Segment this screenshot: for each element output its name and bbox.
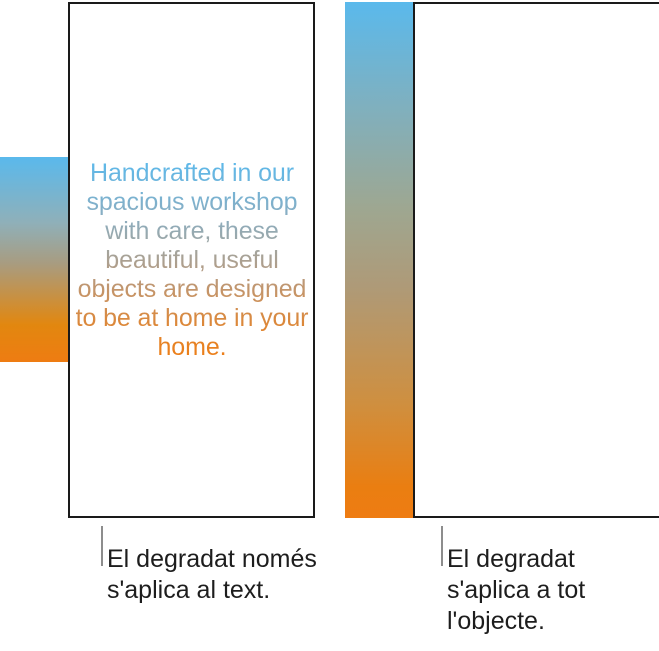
caption-text-only: El degradat només s'aplica al text.: [107, 544, 322, 606]
gradient-swatch-text-only: [0, 157, 68, 362]
sample-paragraph-text-only: Handcrafted in our spacious workshop wit…: [74, 159, 310, 362]
caption-whole-object: El degradat s'aplica a tot l'objecte.: [447, 544, 659, 637]
gradient-bar-whole-object: [345, 2, 413, 518]
sample-paragraph-whole-object: Handcrafted in our spacious workshop wit…: [419, 159, 655, 362]
callout-leader-line-whole-object: [441, 526, 443, 566]
callout-leader-line-text-only: [101, 526, 103, 566]
figure-canvas: Handcrafted in our spacious workshop wit…: [0, 0, 659, 651]
